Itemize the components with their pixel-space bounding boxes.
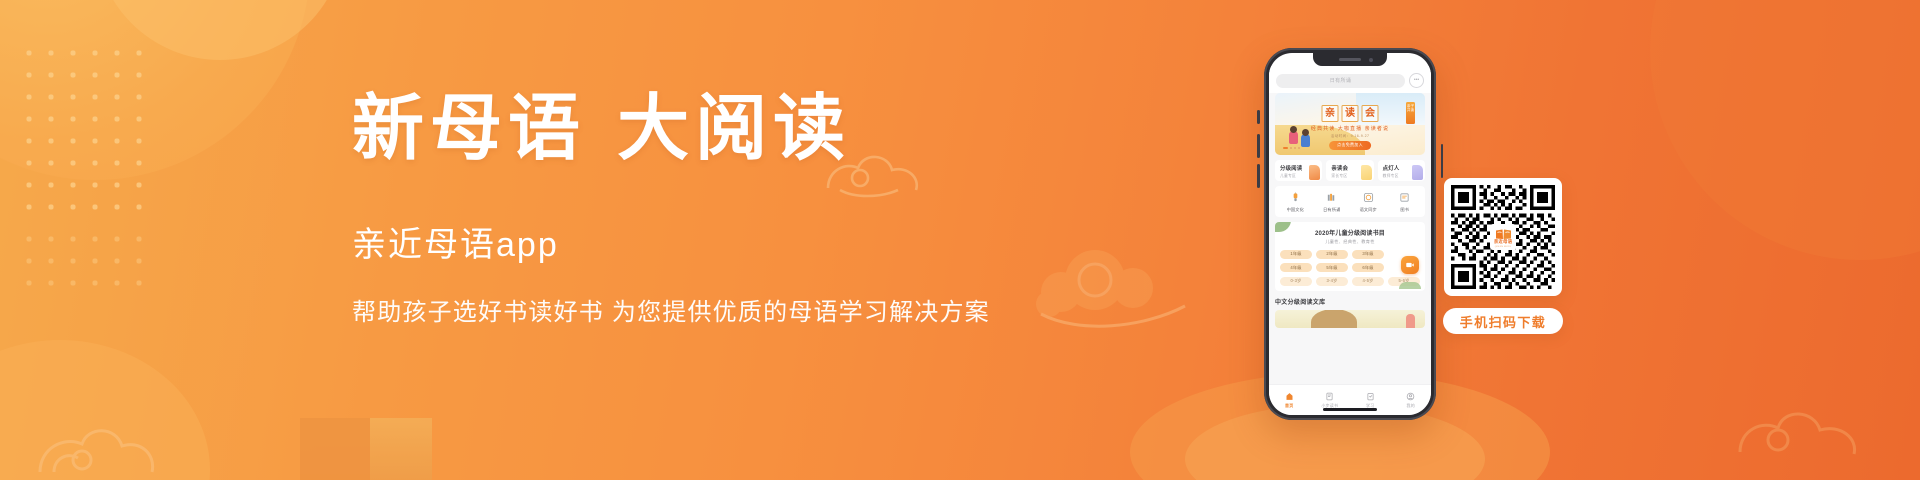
search-row: 日有所诵 •••: [1269, 66, 1431, 93]
quick-link-daily-recitation[interactable]: 日有所诵: [1314, 191, 1351, 213]
more-dots-icon[interactable]: •••: [1409, 73, 1424, 88]
banner-tagline: 帮助孩子选好书读好书 为您提供优质的母语学习解决方案: [352, 292, 1012, 327]
decorative-circle-right: [1650, 0, 1920, 260]
booklist-subtitle: 儿童性、经典性、教育性: [1280, 239, 1420, 245]
decorative-cube-face: [300, 418, 370, 480]
library-title: 中文分级阅读文库: [1275, 297, 1425, 306]
hero-char: 亲: [1322, 105, 1339, 122]
app-content: 日有所诵 ••• 亲 读 会 亲子共读 经典共读 大咖直: [1269, 66, 1431, 385]
quick-link-row: 中国文化 日有所诵: [1275, 186, 1425, 217]
booklist-title: 2020年儿童分级阅读书目: [1280, 228, 1420, 237]
quick-link-label: 语文同步: [1360, 207, 1377, 213]
phone-volume-up-button: [1257, 134, 1260, 158]
hero-date: 活动时间：9.16-9.27: [1275, 134, 1425, 139]
decorative-circle-top-left: [0, 0, 310, 180]
hero-subtitle: 经典共读 大咖直播 亲读者说: [1275, 125, 1425, 132]
category-card-parent-club[interactable]: 亲读会 家长专区: [1326, 160, 1373, 181]
phone-speaker: [1339, 58, 1361, 61]
age-chip[interactable]: 0-3岁: [1280, 277, 1312, 286]
phone-notch: [1313, 53, 1387, 66]
lantern-icon: [1289, 191, 1302, 204]
quick-link-label: 日有所诵: [1323, 207, 1340, 213]
decorative-cube: [300, 418, 432, 480]
qr-center-logo: 亲近母语 QINJIN MUYU: [1490, 224, 1516, 250]
cloud-motif-bottom-left: [30, 402, 200, 480]
book-shape-icon: [1361, 165, 1372, 180]
decorative-circle-bottom-left: [0, 340, 210, 480]
phone-mockup: 日有所诵 ••• 亲 读 会 亲子共读 经典共读 大咖直: [1264, 48, 1436, 420]
hero-ribbon: 亲子共读: [1406, 102, 1415, 124]
grade-chip[interactable]: 3年级: [1352, 250, 1384, 259]
phone-camera-icon: [1369, 58, 1373, 62]
promo-banner: 新母语 大阅读 亲近母语app 帮助孩子选好书读好书 为您提供优质的母语学习解决…: [0, 0, 1920, 480]
qr-logo-subtext: QINJIN MUYU: [1495, 246, 1511, 248]
category-card-graded-reading[interactable]: 分级阅读 儿童专区: [1275, 160, 1322, 181]
age-chip[interactable]: 4-5岁: [1352, 277, 1384, 286]
search-placeholder: 日有所诵: [1330, 77, 1352, 84]
qr-code-image: 亲近母语 QINJIN MUYU: [1451, 185, 1555, 289]
phone-screen: 日有所诵 ••• 亲 读 会 亲子共读 经典共读 大咖直: [1269, 53, 1431, 415]
library-illustration-person: [1406, 314, 1415, 328]
phone-volume-down-button: [1257, 164, 1260, 188]
grade-chip[interactable]: 4年级: [1280, 263, 1312, 272]
category-card-row: 分级阅读 儿童专区 亲读会 家长专区 点灯人 教师专区: [1275, 160, 1425, 181]
grade-chip[interactable]: 2年级: [1316, 250, 1348, 259]
books-icon: [1398, 191, 1411, 204]
library-card[interactable]: [1275, 310, 1425, 328]
sync-icon: [1362, 191, 1375, 204]
cloud-motif-right: [1730, 390, 1880, 470]
book-stack-icon: [1325, 191, 1338, 204]
tab-study[interactable]: 学习: [1350, 391, 1391, 409]
decorative-dot-grid: [18, 42, 150, 212]
tab-profile[interactable]: 我的: [1391, 391, 1432, 409]
book-shape-icon: [1412, 165, 1423, 180]
home-indicator: [1323, 408, 1377, 411]
tab-label: 我的: [1407, 403, 1415, 409]
quick-link-books[interactable]: 图书: [1387, 191, 1424, 213]
age-chip[interactable]: 3-4岁: [1316, 277, 1348, 286]
grade-chip-row-1: 1年级 2年级 3年级: [1280, 250, 1420, 259]
open-book-logo-icon: [1495, 227, 1512, 238]
grade-chip[interactable]: 5年级: [1316, 263, 1348, 272]
quick-link-label: 图书: [1400, 207, 1409, 213]
hero-char: 会: [1362, 105, 1379, 122]
hero-char: 读: [1342, 105, 1359, 122]
library-section: 中文分级阅读文库: [1275, 297, 1425, 328]
cloud-motif-phone-left: [1035, 240, 1205, 336]
grade-chip[interactable]: 1年级: [1280, 250, 1312, 259]
reading-icon: [1325, 391, 1335, 401]
grade-chip[interactable]: 6年级: [1352, 263, 1384, 272]
video-play-icon[interactable]: [1401, 256, 1419, 274]
study-icon: [1365, 391, 1375, 401]
age-chip-row: 0-3岁 3-4岁 4-5岁 5-6岁: [1280, 277, 1420, 286]
quick-link-chinese-sync[interactable]: 语文同步: [1350, 191, 1387, 213]
quick-link-label: 中国文化: [1287, 207, 1304, 213]
hero-title: 亲 读 会: [1322, 105, 1379, 122]
tab-reading[interactable]: 小步读书: [1310, 391, 1351, 409]
profile-icon: [1406, 391, 1416, 401]
library-illustration-arch: [1311, 310, 1357, 328]
tab-label: 首页: [1285, 403, 1293, 409]
download-button[interactable]: 手机扫码下载: [1443, 308, 1563, 334]
leaf-decoration-bottom-right: [1399, 282, 1421, 289]
quick-link-chinese-culture[interactable]: 中国文化: [1277, 191, 1314, 213]
grade-chip-row-2: 4年级 5年级 6年级: [1280, 263, 1420, 272]
home-icon: [1284, 391, 1294, 401]
banner-copy: 新母语 大阅读 亲近母语app 帮助孩子选好书读好书 为您提供优质的母语学习解决…: [352, 88, 1012, 327]
phone-power-button: [1441, 144, 1444, 178]
qr-code-panel: 亲近母语 QINJIN MUYU: [1444, 178, 1562, 296]
tab-home[interactable]: 首页: [1269, 391, 1310, 409]
phone-mute-button: [1257, 110, 1260, 124]
booklist-card: 2020年儿童分级阅读书目 儿童性、经典性、教育性 1年级 2年级 3年级 4年…: [1275, 222, 1425, 291]
carousel-dots[interactable]: [1283, 147, 1300, 149]
page-title: 新母语 大阅读: [352, 88, 1012, 169]
search-input[interactable]: 日有所诵: [1276, 74, 1405, 88]
hero-banner[interactable]: 亲 读 会 亲子共读 经典共读 大咖直播 亲读者说 活动时间：9.16-9.27…: [1275, 93, 1425, 155]
category-card-teacher[interactable]: 点灯人 教师专区: [1378, 160, 1425, 181]
app-name: 亲近母语app: [352, 217, 1012, 266]
hero-cta-button[interactable]: 点击免费加入: [1329, 141, 1371, 150]
decorative-dot-grid-2: [18, 228, 150, 288]
decorative-circle-top-left-2: [95, 0, 345, 60]
book-shape-icon: [1309, 165, 1320, 180]
